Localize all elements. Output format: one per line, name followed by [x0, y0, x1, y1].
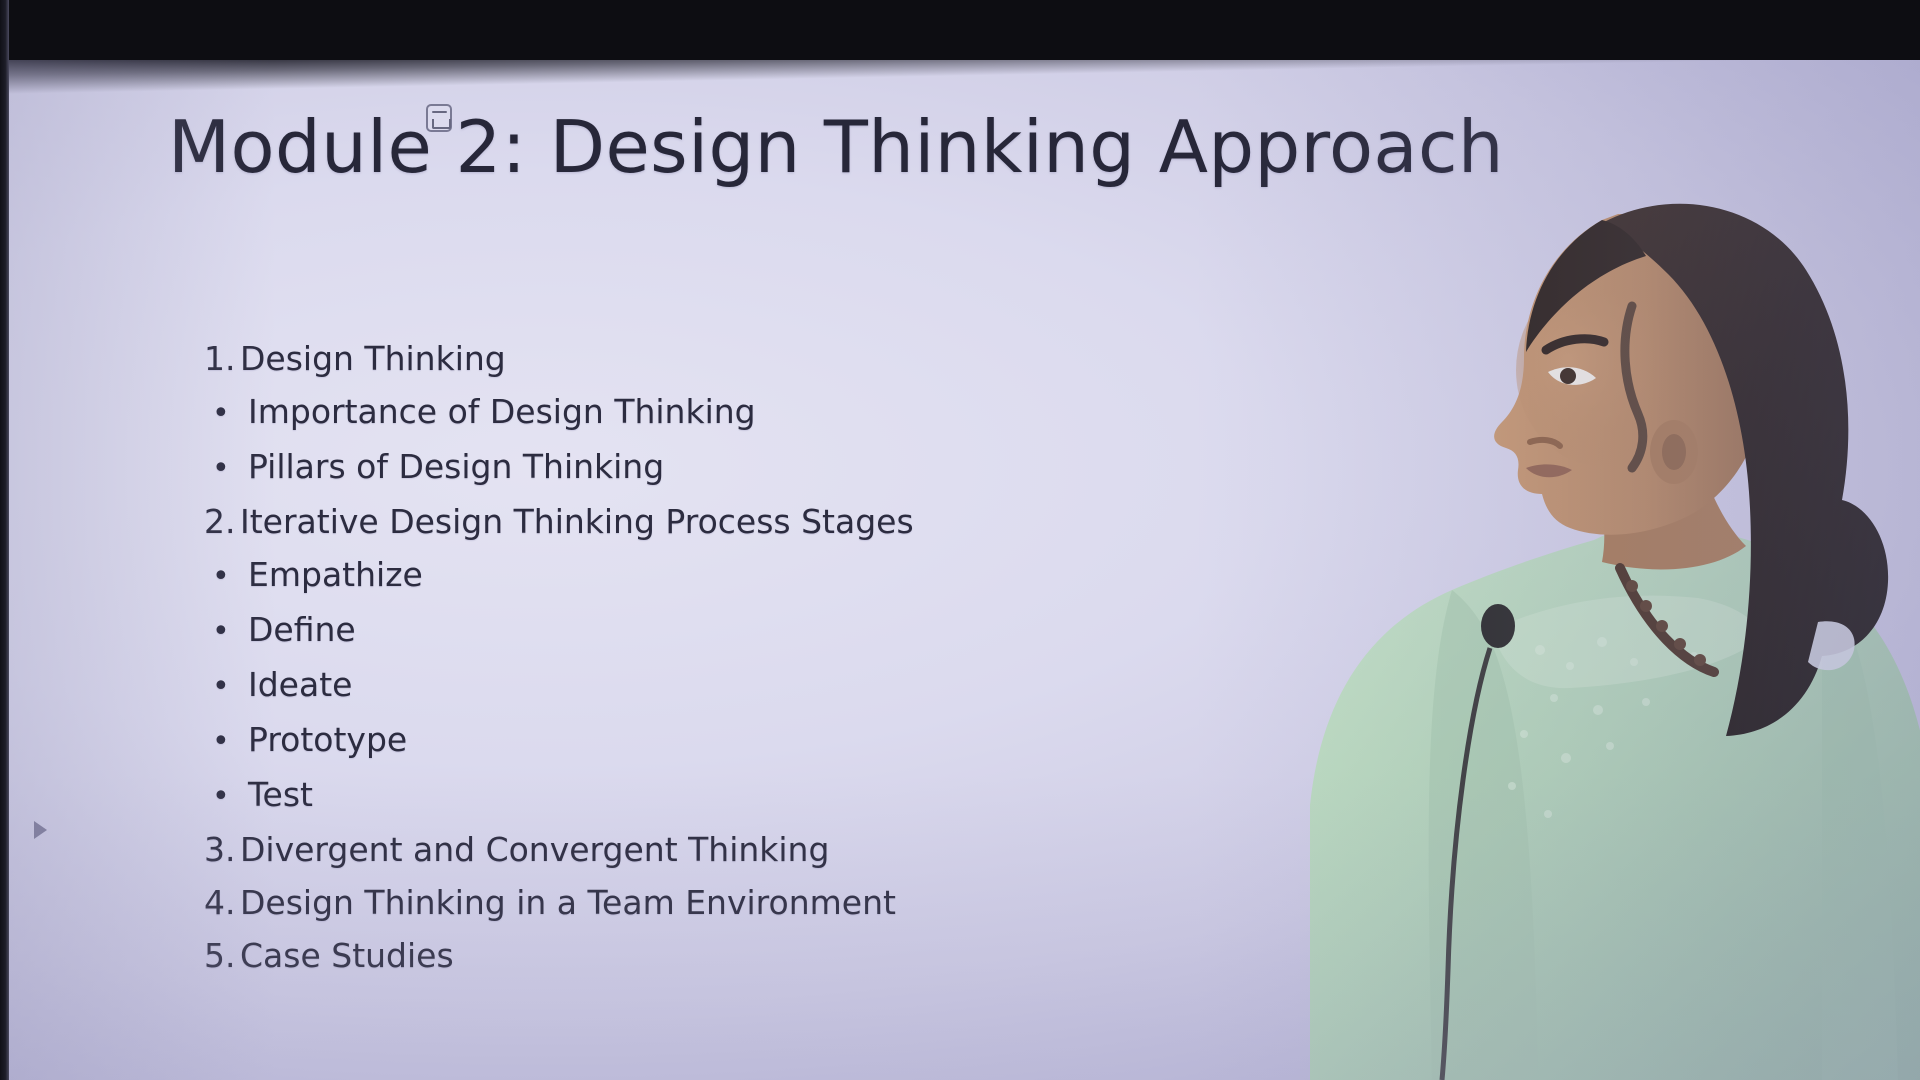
outline-item-9: • Test — [204, 768, 914, 823]
outline-marker: 4. — [204, 876, 240, 929]
slide-badge-icon — [426, 104, 452, 132]
outline-label: Test — [248, 768, 313, 821]
outline-marker: • — [212, 387, 248, 440]
outline-item-1: 1. Design Thinking — [204, 332, 914, 385]
outline-marker: • — [212, 660, 248, 713]
outline-item-11: 4. Design Thinking in a Team Environment — [204, 876, 914, 929]
outline-item-10: 3. Divergent and Convergent Thinking — [204, 823, 914, 876]
outline-label: Empathize — [248, 548, 423, 601]
slide-outline-list: 1. Design Thinking • Importance of Desig… — [204, 332, 914, 982]
outline-item-8: • Prototype — [204, 713, 914, 768]
play-triangle-icon[interactable] — [34, 821, 47, 839]
outline-marker: 3. — [204, 823, 240, 876]
outline-item-6: • Define — [204, 603, 914, 658]
outline-label: Case Studies — [240, 929, 454, 982]
outline-marker: 1. — [204, 332, 240, 385]
outline-label: Divergent and Convergent Thinking — [240, 823, 829, 876]
outline-item-2: • Importance of Design Thinking — [204, 385, 914, 440]
outline-label: Ideate — [248, 658, 352, 711]
outline-label: Importance of Design Thinking — [248, 385, 756, 438]
lecture-video-frame: Module 2: Design Thinking Approach 1. De… — [0, 0, 1920, 1080]
outline-item-4: 2. Iterative Design Thinking Process Sta… — [204, 495, 914, 548]
outline-item-3: • Pillars of Design Thinking — [204, 440, 914, 495]
outline-label: Define — [248, 603, 356, 656]
outline-marker: • — [212, 442, 248, 495]
outline-label: Design Thinking in a Team Environment — [240, 876, 896, 929]
presentation-slide: Module 2: Design Thinking Approach 1. De… — [8, 60, 1920, 1080]
outline-label: Pillars of Design Thinking — [248, 440, 664, 493]
outline-label: Prototype — [248, 713, 407, 766]
outline-label: Iterative Design Thinking Process Stages — [240, 495, 914, 548]
outline-marker: • — [212, 715, 248, 768]
outline-marker: • — [212, 770, 248, 823]
outline-marker: • — [212, 605, 248, 658]
outline-marker: 2. — [204, 495, 240, 548]
outline-item-7: • Ideate — [204, 658, 914, 713]
projection-screen: Module 2: Design Thinking Approach 1. De… — [8, 60, 1920, 1080]
board-left-frame — [0, 0, 9, 1080]
slide-title: Module 2: Design Thinking Approach — [168, 105, 1504, 189]
outline-marker: 5. — [204, 929, 240, 982]
outline-marker: • — [212, 550, 248, 603]
outline-label: Design Thinking — [240, 332, 506, 385]
outline-item-12: 5. Case Studies — [204, 929, 914, 982]
outline-item-5: • Empathize — [204, 548, 914, 603]
